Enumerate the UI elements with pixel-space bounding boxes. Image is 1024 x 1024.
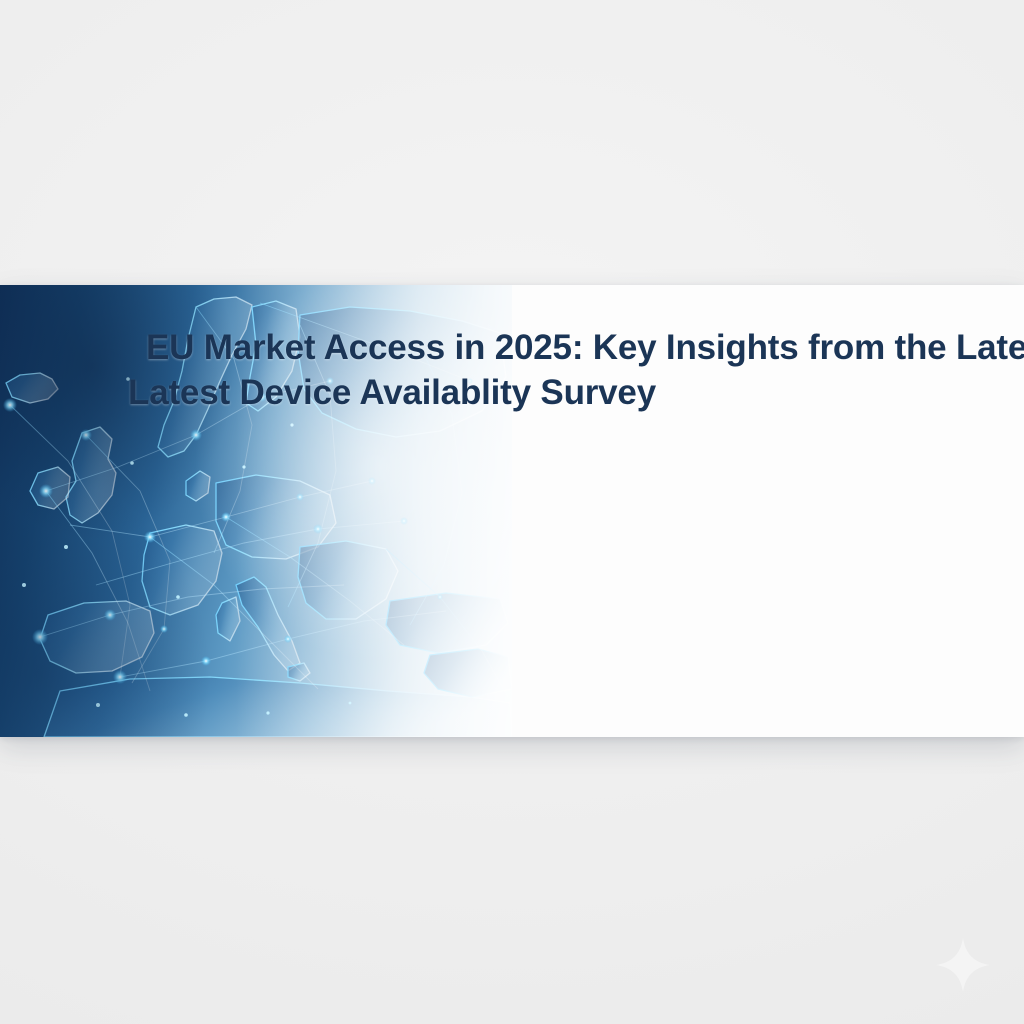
promo-banner: EU Market Access in 2025: Key Insights f… [0,285,1024,737]
banner-headline: EU Market Access in 2025: Key Insights f… [0,325,1024,415]
headline-line-2: Latest Device Availablity Survey [24,370,1000,415]
headline-line-1: EU Market Access in 2025: Key Insights f… [24,325,1000,370]
